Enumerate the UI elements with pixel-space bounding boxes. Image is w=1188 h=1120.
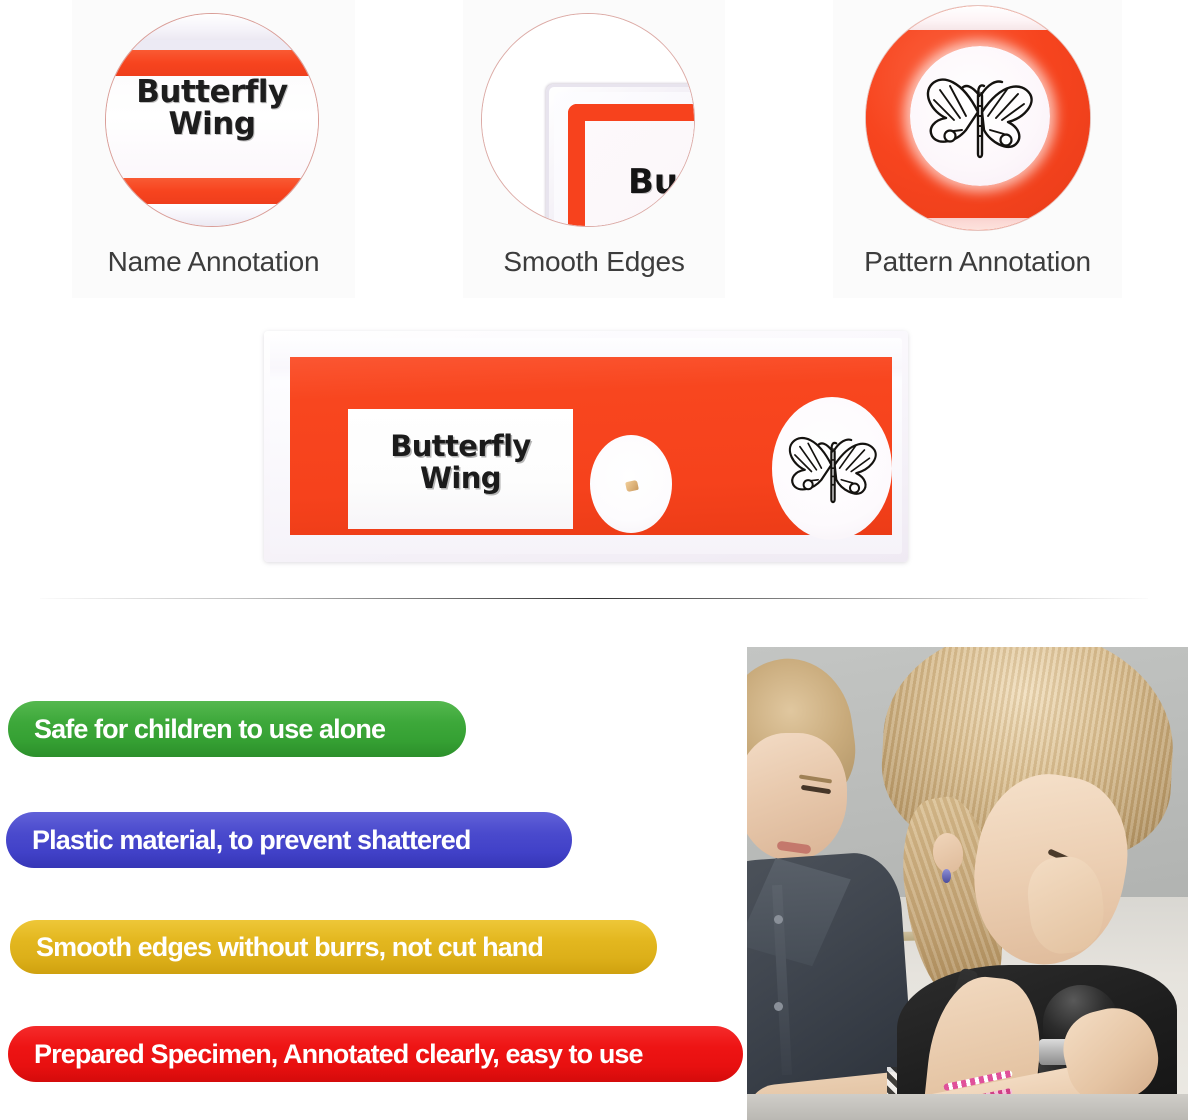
slide-glass-edge-top xyxy=(866,6,1090,30)
pattern-window xyxy=(910,46,1050,186)
benefit-pill-safe-for-children: Safe for children to use alone xyxy=(8,701,466,757)
name-annotation-text: Butterfly Wing xyxy=(106,76,318,140)
butterfly-wing-specimen xyxy=(625,480,639,492)
name-label-closeup-icon: Butterfly Wing xyxy=(106,14,318,226)
slide-glass-edge-bottom xyxy=(866,218,1090,230)
slide-glass-edge xyxy=(106,14,318,40)
benefit-pill-prepared-specimen: Prepared Specimen, Annotated clearly, ea… xyxy=(8,1026,743,1082)
butterfly-pattern-closeup-icon xyxy=(866,6,1090,230)
slide-specimen-window xyxy=(590,435,672,533)
benefit-pill-smooth-edges: Smooth edges without burrs, not cut hand xyxy=(10,920,657,974)
slide-stripe-scene: Butterfly Wing xyxy=(106,14,318,226)
slide-name-label-box: Butterfly Wing xyxy=(348,409,573,529)
section-divider xyxy=(40,598,1148,599)
slide-pattern-window xyxy=(772,397,892,540)
prepared-slide-product-image: Butterfly Wing xyxy=(264,331,908,562)
feature-panel-caption: Pattern Annotation xyxy=(833,246,1122,278)
butterfly-line-drawing-icon xyxy=(916,62,1044,172)
slide-name-label-text: Butterfly Wing xyxy=(348,431,573,495)
benefit-pill-text: Safe for children to use alone xyxy=(34,714,385,745)
slide-corner-closeup-icon: Bu xyxy=(482,14,694,226)
benefit-pill-plastic-material: Plastic material, to prevent shattered xyxy=(6,812,572,868)
slide-corner-scene: Bu xyxy=(482,14,694,226)
benefit-pill-text: Plastic material, to prevent shattered xyxy=(32,825,470,856)
slide-orange-mount: Butterfly Wing xyxy=(290,357,892,535)
boy-shirt-button xyxy=(774,915,783,924)
partial-label-text: Bu xyxy=(628,162,678,202)
boy-shirt-button xyxy=(774,1002,783,1011)
slide-orange-stripe-bottom xyxy=(106,178,318,204)
slide-glass-edge-2 xyxy=(106,40,318,50)
feature-panel-caption: Name Annotation xyxy=(72,246,355,278)
feature-panels-row: Name Annotation Butterfly Wing Smooth Ed… xyxy=(0,0,1188,300)
photo-desk-surface xyxy=(747,1094,1188,1120)
slide-glass-edge-3 xyxy=(106,204,318,226)
lifestyle-photo-children-microscope xyxy=(747,647,1188,1120)
slide-orange-stripe-top xyxy=(106,50,318,76)
girl-earring xyxy=(942,869,951,883)
butterfly-line-drawing-icon xyxy=(780,411,886,527)
benefit-pill-text: Smooth edges without burrs, not cut hand xyxy=(36,932,543,963)
feature-panel-caption: Smooth Edges xyxy=(463,246,725,278)
benefit-pill-text: Prepared Specimen, Annotated clearly, ea… xyxy=(34,1039,643,1070)
